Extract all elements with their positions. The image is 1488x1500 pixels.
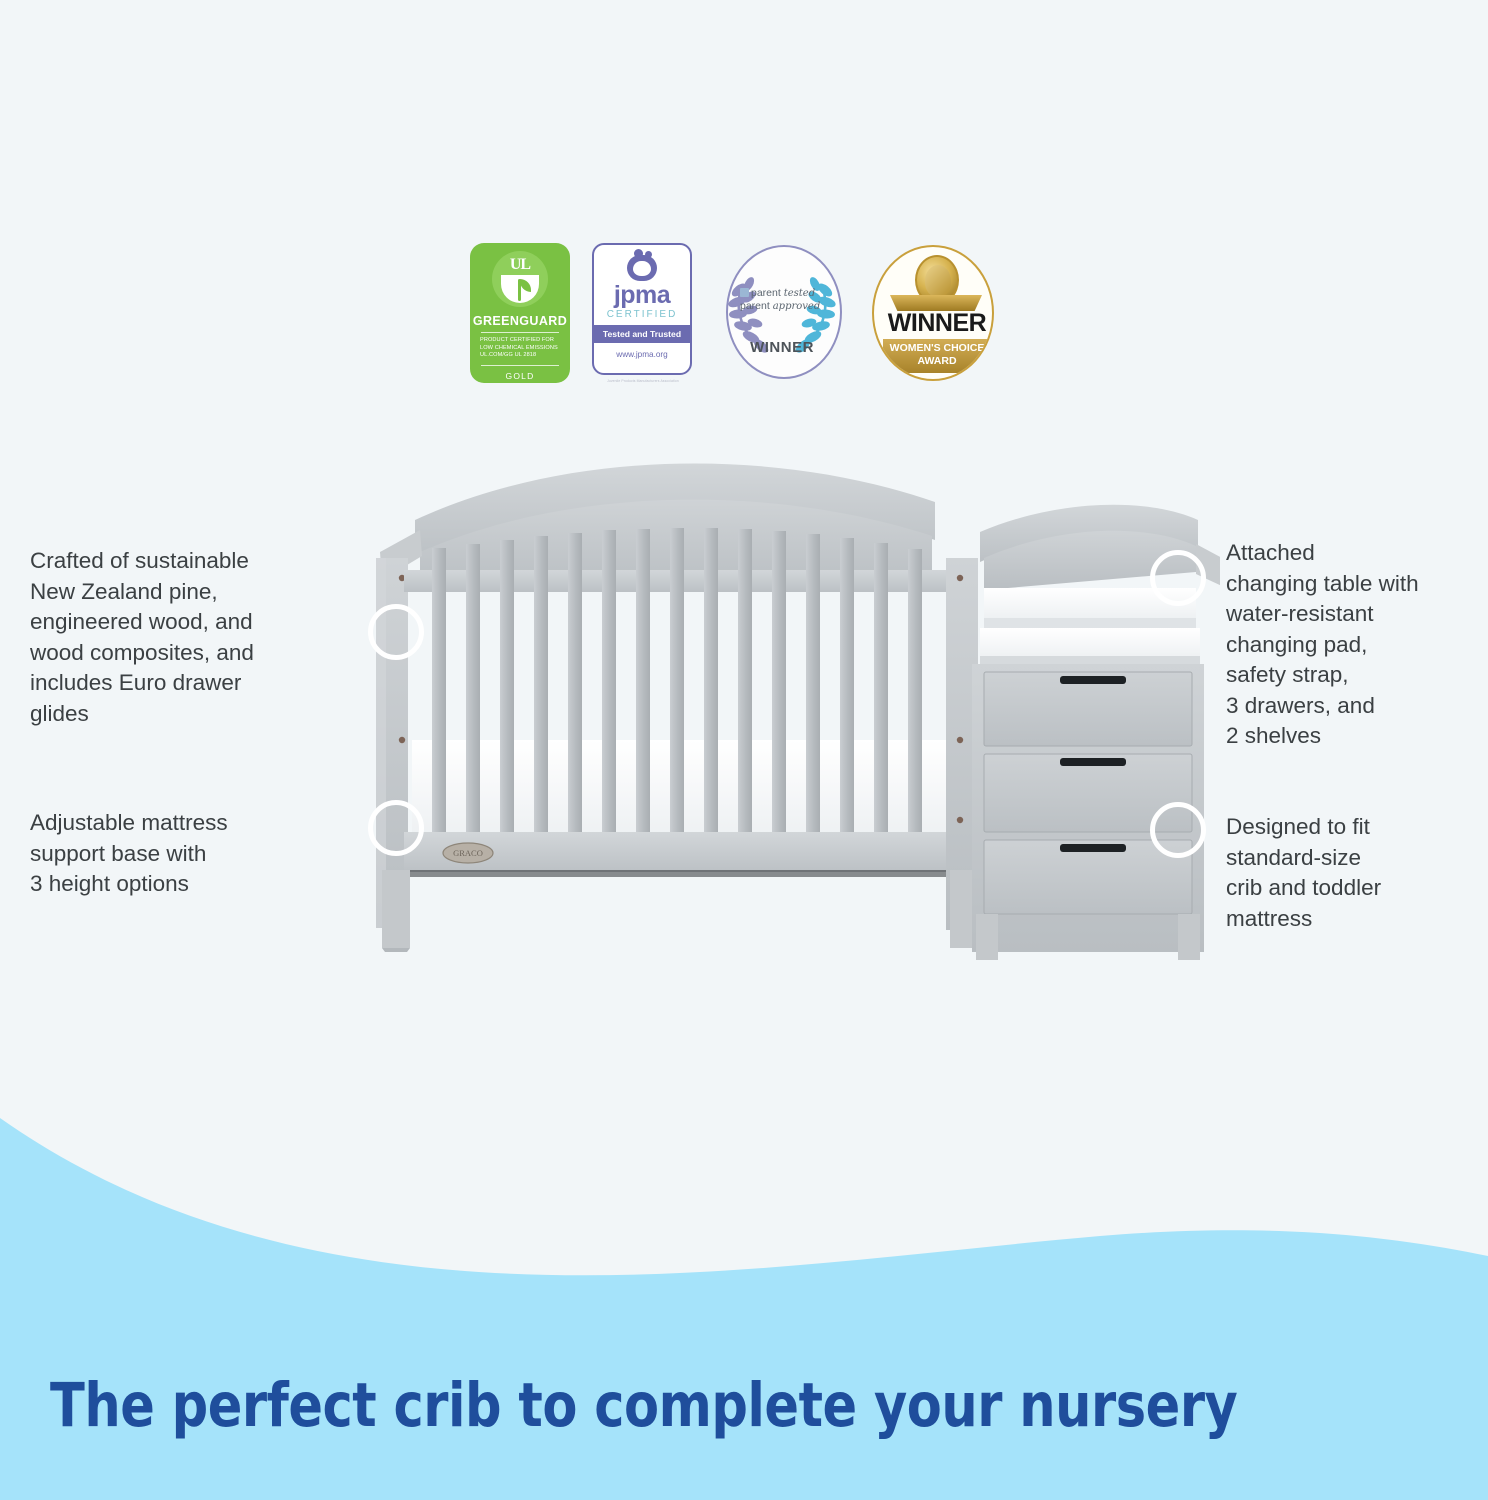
greenguard-subtext: PRODUCT CERTIFIED FOR LOW CHEMICAL EMISS… xyxy=(480,337,560,360)
greenguard-level: GOLD xyxy=(481,371,559,381)
laurel-wreath-icon xyxy=(718,243,846,383)
womens-choice-band-line2: AWARD xyxy=(883,355,991,368)
heart-family-icon xyxy=(622,249,662,282)
certification-badges: UL GREENGUARD PRODUCT CERTIFIED FOR LOW … xyxy=(470,243,1060,398)
ptpa-line1-plain: parent xyxy=(751,287,781,299)
jpma-wordmark: jpma xyxy=(614,283,670,308)
drawer-2-handle[interactable] xyxy=(1060,758,1126,766)
womens-choice-band: WOMEN'S CHOICE AWARD xyxy=(883,339,991,373)
jpma-url: www.jpma.org xyxy=(616,350,667,359)
ptpa-line1-script: tested xyxy=(784,288,815,299)
callout-marker-construction[interactable] xyxy=(368,604,424,660)
badge-womens-choice-award: WINNER WOMEN'S CHOICE AWARD xyxy=(868,243,994,383)
feature-text-mattress-fit: Designed to fit standard-size crib and t… xyxy=(1226,812,1482,934)
callout-marker-mattress-fit[interactable] xyxy=(1150,802,1206,858)
feature-text-changing-table: Attached changing table with water-resis… xyxy=(1226,538,1482,752)
brand-badge-label: GRACO xyxy=(453,848,483,858)
divider xyxy=(481,332,559,333)
badge-jpma: jpma CERTIFIED Tested and Trusted www.jp… xyxy=(592,243,696,383)
feature-text-mattress-support: Adjustable mattress support base with 3 … xyxy=(30,808,350,900)
jpma-fine-print: Juvenile Products Manufacturers Associat… xyxy=(605,379,681,383)
headline: The perfect crib to complete your nurser… xyxy=(50,1370,1259,1441)
feature-text-construction: Crafted of sustainable New Zealand pine,… xyxy=(30,546,350,729)
womens-choice-band-line1: WOMEN'S CHOICE xyxy=(883,342,991,355)
ptpa-line2-plain: parent xyxy=(740,300,770,312)
leaf-stem xyxy=(518,279,521,301)
ptpa-line2-script: approved xyxy=(773,301,821,312)
callout-marker-changing-table[interactable] xyxy=(1150,550,1206,606)
ul-mark-label: UL xyxy=(492,256,548,274)
callout-marker-mattress-support[interactable] xyxy=(368,800,424,856)
product-image-crib-and-changer: GRACO xyxy=(360,440,1220,960)
badge-greenguard: UL GREENGUARD PRODUCT CERTIFIED FOR LOW … xyxy=(470,243,570,383)
drawer-1-handle[interactable] xyxy=(1060,676,1126,684)
ptpa-award-label: WINNER xyxy=(718,339,846,356)
jpma-certified-label: CERTIFIED xyxy=(607,309,678,320)
greenguard-title: GREENGUARD xyxy=(473,314,567,328)
jpma-tagline: Tested and Trusted xyxy=(594,325,690,343)
ptpa-logo-icon xyxy=(740,288,749,297)
badge-ptpa: parent tested parent approved WINNER xyxy=(718,243,846,383)
drawer-3-handle[interactable] xyxy=(1060,844,1126,852)
womens-choice-award-label: WINNER xyxy=(874,309,994,338)
greenguard-level-wrap: GOLD xyxy=(481,365,559,381)
ul-leaf-icon: UL xyxy=(492,251,548,307)
infographic-page: UL GREENGUARD PRODUCT CERTIFIED FOR LOW … xyxy=(0,0,1488,1500)
